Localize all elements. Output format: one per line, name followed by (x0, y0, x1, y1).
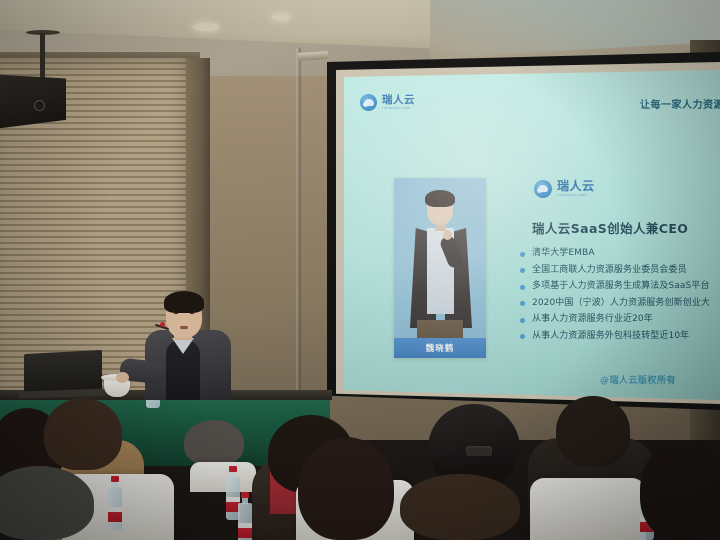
audience-head (44, 398, 122, 470)
audience-head (298, 437, 394, 540)
water-bottle (238, 492, 252, 540)
logo-company-name: 瑞人云 (557, 180, 595, 192)
portrait-name-label: 魏晓鹤 (426, 342, 455, 354)
bottle-neck (230, 471, 236, 478)
audience-head (184, 420, 244, 466)
chair-cover (530, 478, 646, 540)
bullet-text: 全国工商联人力资源服务业委员会委员 (532, 265, 687, 275)
water-bottle (108, 476, 122, 530)
audience-hair-clip (466, 446, 492, 456)
slide-header-logo: 瑞人云 ruirenyun.com (360, 94, 415, 111)
bullet-dot-icon (520, 285, 525, 290)
bullet-item: 全国工商联人力资源服务业委员会委员 (520, 265, 720, 275)
audience-head (640, 440, 720, 540)
bullet-text: 2020中国（宁波）人力资源服务创新创业大 (532, 298, 710, 308)
bullet-text: 从事人力资源服务行业近20年 (532, 314, 653, 324)
bottle-neck (242, 497, 248, 504)
bullet-item: 多项基于人力资源服务生成算法及SaaS平台 (520, 281, 720, 291)
bullet-item: 从事人力资源服务行业近20年 (520, 314, 720, 324)
presentation-slide: 瑞人云 ruirenyun.com 让每一家人力资源 魏晓鹤 瑞人云 rui (344, 70, 720, 400)
bottle-cap (229, 466, 237, 472)
presenter-eye (190, 312, 194, 314)
slide-body-logo: 瑞人云 ruirenyun.com (534, 180, 595, 198)
bullet-dot-icon (520, 268, 525, 273)
cloud-logo-icon (534, 180, 552, 198)
conference-photo: 瑞人云 ruirenyun.com 让每一家人力资源 魏晓鹤 瑞人云 rui (0, 0, 720, 540)
portrait-name-bar: 魏晓鹤 (394, 338, 486, 358)
presenter-portrait-card: 魏晓鹤 (394, 178, 486, 358)
wall-seam (296, 48, 301, 440)
bottle-cap (111, 476, 119, 482)
presenter-hair (164, 291, 204, 313)
bottle-label-stripe (108, 507, 122, 512)
microphone-icon (160, 322, 165, 327)
portrait-hand (443, 230, 452, 240)
portrait-hair (425, 190, 455, 207)
slide-title: 瑞人云SaaS创始人兼CEO (532, 218, 688, 237)
bottle-cap (241, 492, 249, 498)
speaker-mount-pole (40, 33, 45, 81)
presenter-eye (174, 312, 178, 314)
bullet-dot-icon (520, 301, 525, 306)
bullet-item: 清华大学EMBA (520, 248, 720, 258)
bullet-dot-icon (520, 334, 525, 339)
slide-watermark: @瑞人云版权所有 (600, 373, 676, 386)
bullet-item: 从事人力资源服务外包科技转型近10年 (520, 331, 720, 341)
presenter-hand (116, 372, 129, 383)
audience-head (556, 396, 630, 466)
ceiling-light-icon (272, 14, 290, 20)
bullet-text: 从事人力资源服务外包科技转型近10年 (532, 331, 689, 341)
bullet-dot-icon (520, 252, 525, 257)
bullet-text: 清华大学EMBA (532, 248, 595, 258)
cloud-logo-icon (360, 94, 377, 111)
bullet-item: 2020中国（宁波）人力资源服务创新创业大 (520, 298, 720, 308)
logo-text: 瑞人云 ruirenyun.com (382, 95, 415, 110)
slide-bullet-list: 清华大学EMBA 全国工商联人力资源服务业委员会委员 多项基于人力资源服务生成算… (520, 248, 720, 347)
slide-tagline: 让每一家人力资源 (640, 96, 720, 111)
logo-url: ruirenyun.com (557, 194, 595, 198)
bottle-neck (112, 481, 118, 488)
logo-company-name: 瑞人云 (382, 95, 415, 106)
bullet-dot-icon (520, 318, 525, 323)
speaker-brand-icon (34, 100, 45, 111)
bottle-label-stripe (238, 523, 252, 528)
ceiling-light-icon (193, 23, 219, 31)
bullet-text: 多项基于人力资源服务生成算法及SaaS平台 (532, 281, 710, 291)
logo-url: ruirenyun.com (382, 107, 415, 110)
logo-text: 瑞人云 ruirenyun.com (557, 180, 595, 197)
chair-cover (190, 462, 256, 492)
presenter-mouth (180, 326, 188, 329)
audience-head (400, 474, 520, 540)
